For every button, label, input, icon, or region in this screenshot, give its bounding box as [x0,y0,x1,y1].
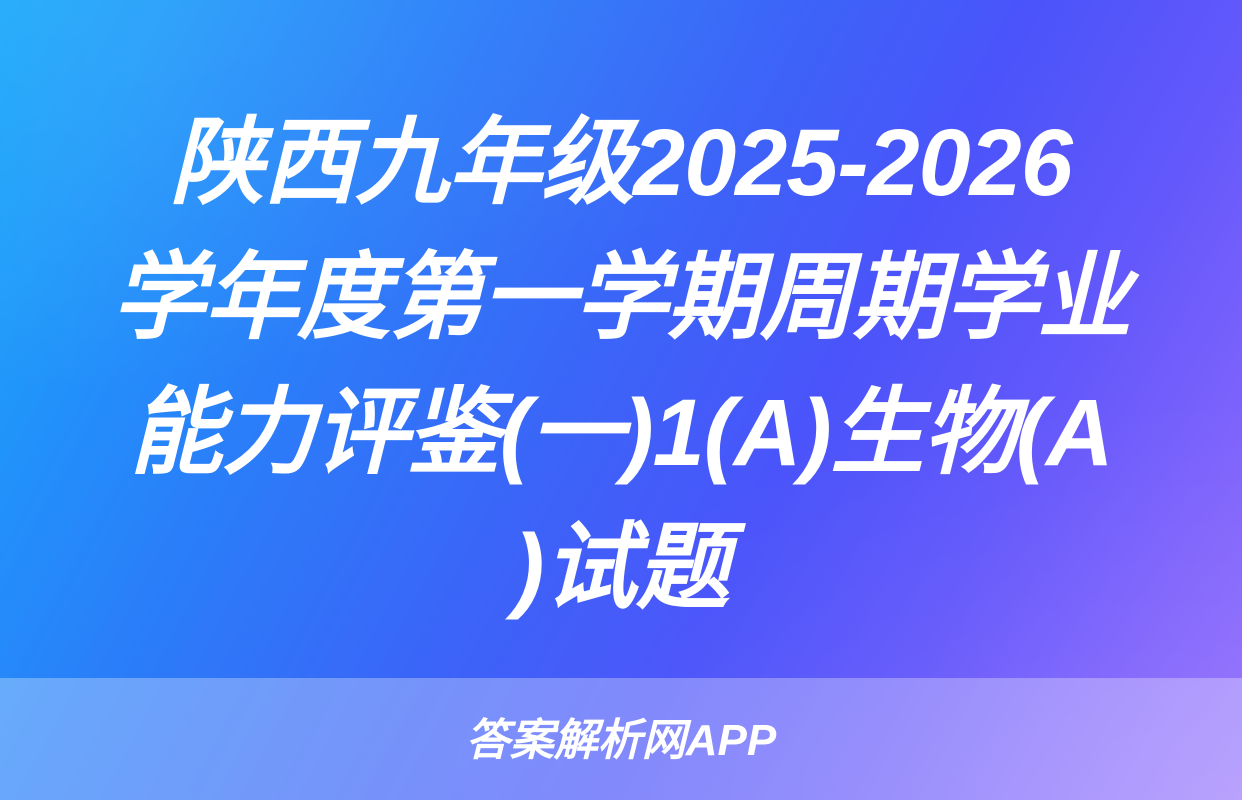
exam-title-card: 陕西九年级2025-2026 学年度第一学期周期学业 能力评鉴(一)1(A)生物… [0,0,1242,800]
title-line-3: 能力评鉴(一)1(A)生物(A [92,366,1150,501]
title-line-2: 学年度第一学期周期学业 [92,231,1150,366]
title-line-1: 陕西九年级2025-2026 [92,96,1150,231]
footer-watermark-band: 答案解析网APP [0,678,1242,800]
brand-watermark: 答案解析网APP [466,719,776,763]
page-title: 陕西九年级2025-2026 学年度第一学期周期学业 能力评鉴(一)1(A)生物… [0,96,1242,636]
title-line-4: )试题 [92,501,1150,636]
